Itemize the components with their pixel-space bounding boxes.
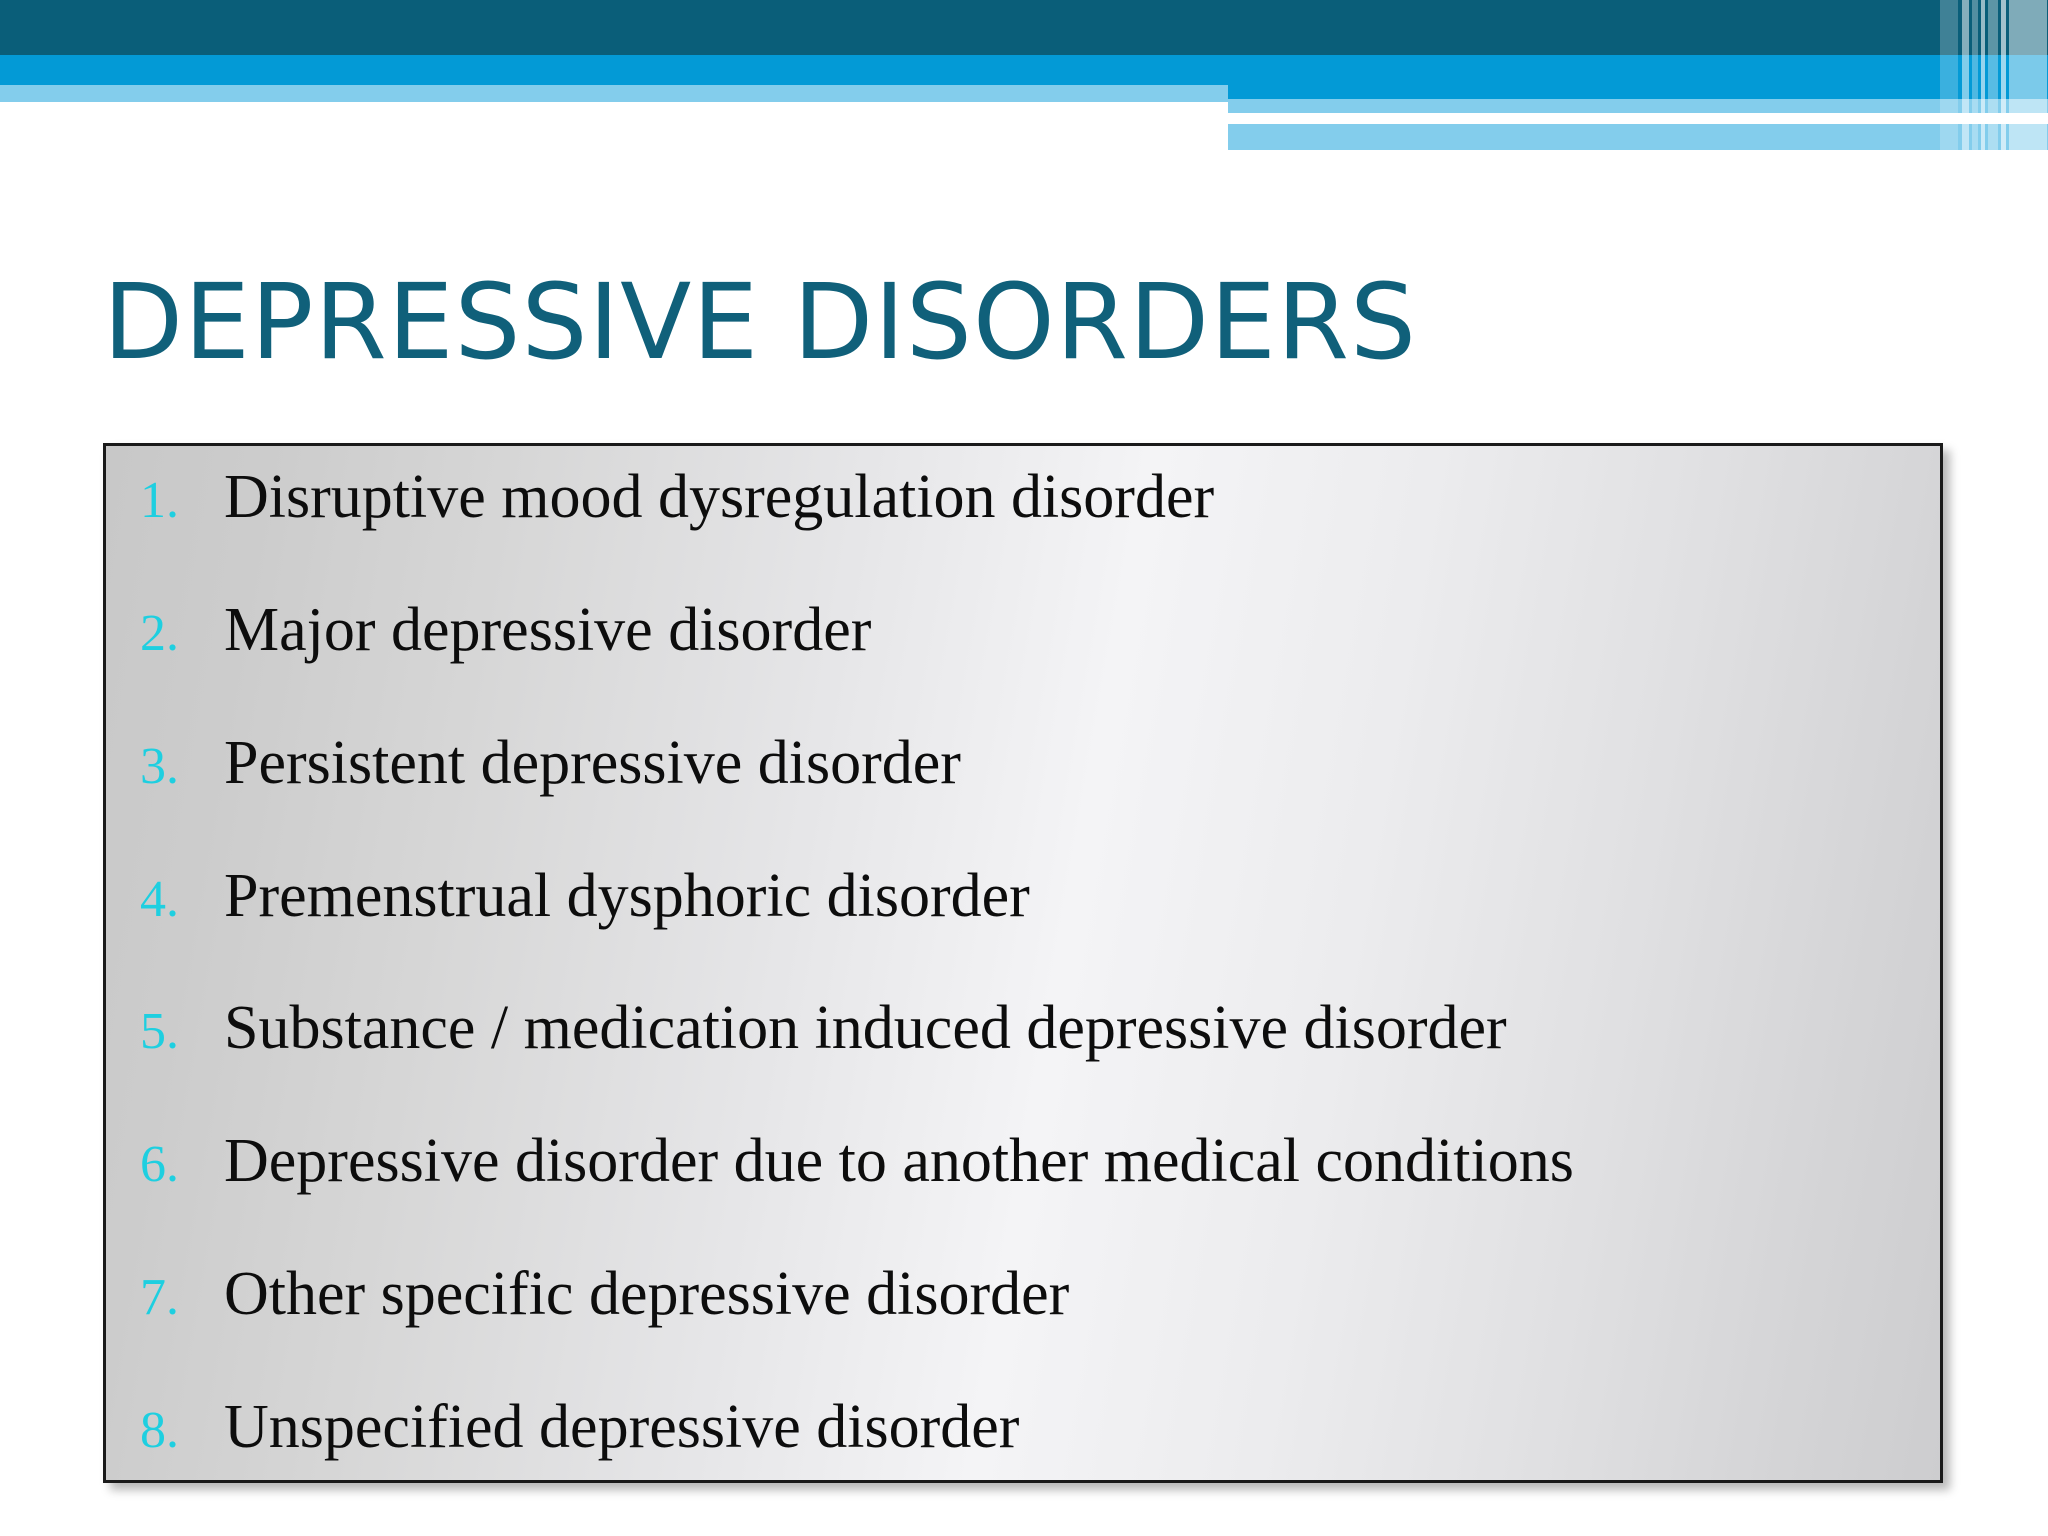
list-item-number: 1. [126, 471, 224, 530]
header-band-dark-teal [0, 0, 2048, 55]
list-item: 7. Other specific depressive disorder [126, 1263, 1914, 1327]
disorder-list: 1. Disruptive mood dysregulation disorde… [126, 466, 1914, 1460]
edge-stripe-7 [2009, 0, 2047, 150]
disorder-list-box: 1. Disruptive mood dysregulation disorde… [103, 443, 1943, 1483]
edge-stripe-5 [1988, 0, 1998, 150]
edge-stripe-2 [1962, 0, 1969, 150]
header-edge-stripes [1938, 0, 2048, 150]
list-item-label: Disruptive mood dysregulation disorder [224, 466, 1214, 528]
edge-stripe-6 [2001, 0, 2006, 150]
list-item-label: Persistent depressive disorder [224, 732, 961, 794]
list-item-number: 8. [126, 1401, 224, 1460]
list-item: 1. Disruptive mood dysregulation disorde… [126, 466, 1914, 530]
list-item: 8. Unspecified depressive disorder [126, 1396, 1914, 1460]
list-item-label: Premenstrual dysphoric disorder [224, 865, 1030, 927]
list-item: 3. Persistent depressive disorder [126, 732, 1914, 796]
list-item-label: Substance / medication induced depressiv… [224, 997, 1507, 1059]
list-item-number: 5. [126, 1002, 224, 1061]
edge-stripe-4 [1981, 0, 1985, 150]
slide-title: DEPRESSIVE DISORDERS [103, 266, 1903, 378]
header-accent-gap-white [1228, 113, 1922, 124]
list-item-number: 2. [126, 604, 224, 663]
header-accent-bar-2 [1228, 124, 2048, 150]
list-item-number: 6. [126, 1135, 224, 1194]
edge-stripe-3 [1972, 0, 1978, 150]
list-item: 4. Premenstrual dysphoric disorder [126, 865, 1914, 929]
header-accent-bar-1 [1228, 99, 2048, 113]
list-item-number: 7. [126, 1268, 224, 1327]
slide-header-decoration [0, 0, 2048, 150]
header-band-light-blue-left [0, 85, 1228, 102]
list-item-label: Major depressive disorder [224, 599, 871, 661]
list-item: 5. Substance / medication induced depres… [126, 997, 1914, 1061]
list-item-label: Depressive disorder due to another medic… [224, 1130, 1574, 1192]
list-item-label: Other specific depressive disorder [224, 1263, 1069, 1325]
list-item-number: 4. [126, 870, 224, 929]
list-item-number: 3. [126, 737, 224, 796]
list-item: 6. Depressive disorder due to another me… [126, 1130, 1914, 1194]
list-item: 2. Major depressive disorder [126, 599, 1914, 663]
edge-stripe-1 [1940, 0, 1958, 150]
list-item-label: Unspecified depressive disorder [224, 1396, 1019, 1458]
